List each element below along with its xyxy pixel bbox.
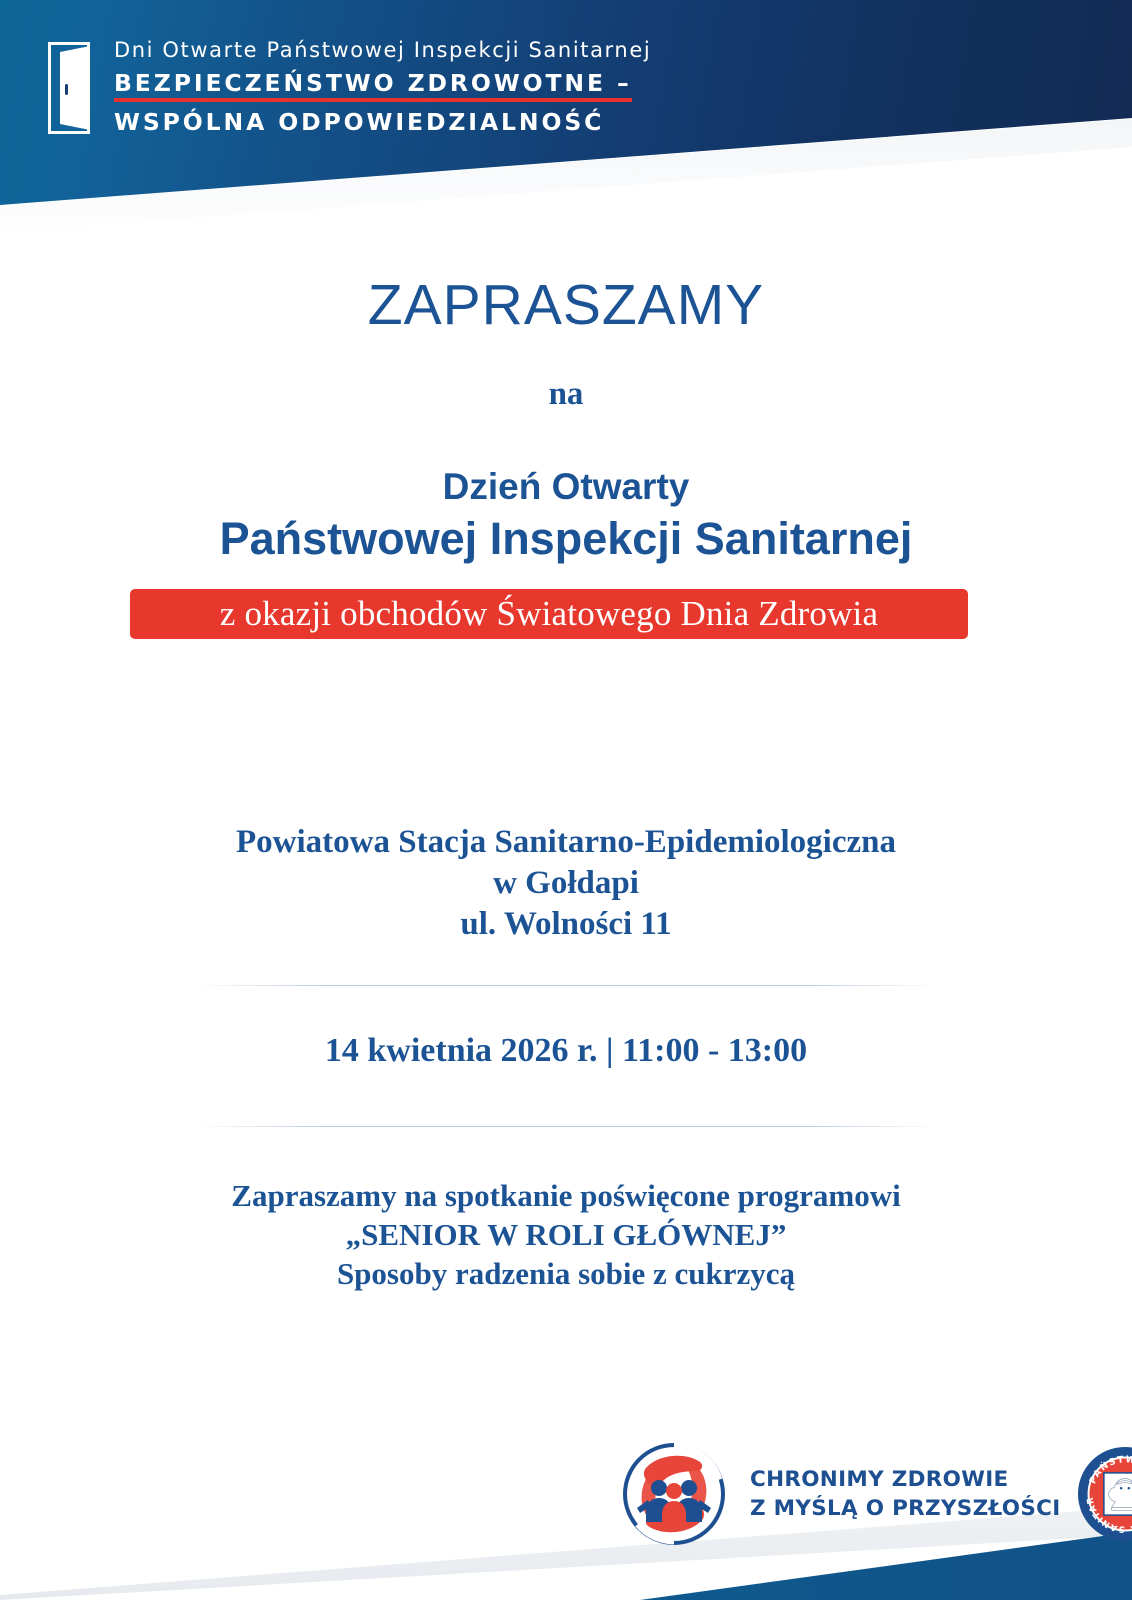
open-door-icon [48, 42, 94, 136]
program-line-2: „SENIOR W ROLI GŁÓWNEJ” [0, 1215, 1132, 1254]
program-line-3: Sposoby radzenia sobie z cukrzycą [0, 1254, 1132, 1293]
header-banner: Dni Otwarte Państwowej Inspekcji Sanitar… [0, 0, 1132, 240]
door-knob-shape [65, 84, 68, 95]
occasion-banner-label: z okazji obchodów Światowego Dnia Zdrowi… [220, 594, 878, 634]
program-line-1: Zapraszamy na spotkanie poświęcone progr… [0, 1176, 1132, 1215]
invitation-preposition: na [0, 376, 1132, 413]
panstwowa-inspekcja-sanitarna-emblem: PAŃSTWOWA INSPEKCJA SANITARNA [1077, 1446, 1132, 1542]
venue-line-1: Powiatowa Stacja Sanitarno-Epidemiologic… [0, 822, 1132, 863]
header-title-line-2: WSPÓLNA ODPOWIEDZIALNOŚĆ [114, 108, 651, 136]
footer-logo-row: CHRONIMY ZDROWIE Z MYŚLĄ O PRZYSZŁOŚCI P… [618, 1432, 1088, 1556]
poster-page: Dni Otwarte Państwowej Inspekcji Sanitar… [0, 0, 1132, 1600]
event-datetime: 14 kwietnia 2026 r. | 11:00 - 13:00 [0, 1032, 1132, 1070]
footer-slogan-line-1: CHRONIMY ZDROWIE [750, 1465, 1061, 1494]
chronimy-zdrowie-logo [618, 1438, 730, 1550]
header-content: Dni Otwarte Państwowej Inspekcji Sanitar… [48, 38, 651, 136]
invitation-heading: ZAPRASZAMY [0, 272, 1132, 338]
divider-above-datetime [196, 985, 936, 986]
event-title-line-2: Państwowej Inspekcji Sanitarnej [0, 513, 1132, 565]
venue-line-2: w Gołdapi [0, 863, 1132, 904]
occasion-banner: z okazji obchodów Światowego Dnia Zdrowi… [130, 589, 968, 639]
header-subtitle: Dni Otwarte Państwowej Inspekcji Sanitar… [114, 38, 651, 62]
header-title-line-1: BEZPIECZEŃSTWO ZDROWOTNE – [114, 69, 632, 102]
event-title-line-1: Dzień Otwarty [0, 466, 1132, 508]
footer-slogan: CHRONIMY ZDROWIE Z MYŚLĄ O PRZYSZŁOŚCI [750, 1465, 1061, 1523]
venue-block: Powiatowa Stacja Sanitarno-Epidemiologic… [0, 822, 1132, 945]
divider-below-datetime [196, 1126, 936, 1127]
program-block: Zapraszamy na spotkanie poświęcone progr… [0, 1176, 1132, 1293]
footer-slogan-line-2: Z MYŚLĄ O PRZYSZŁOŚCI [750, 1494, 1061, 1523]
venue-line-3: ul. Wolności 11 [0, 904, 1132, 945]
header-text-block: Dni Otwarte Państwowej Inspekcji Sanitar… [114, 38, 651, 136]
